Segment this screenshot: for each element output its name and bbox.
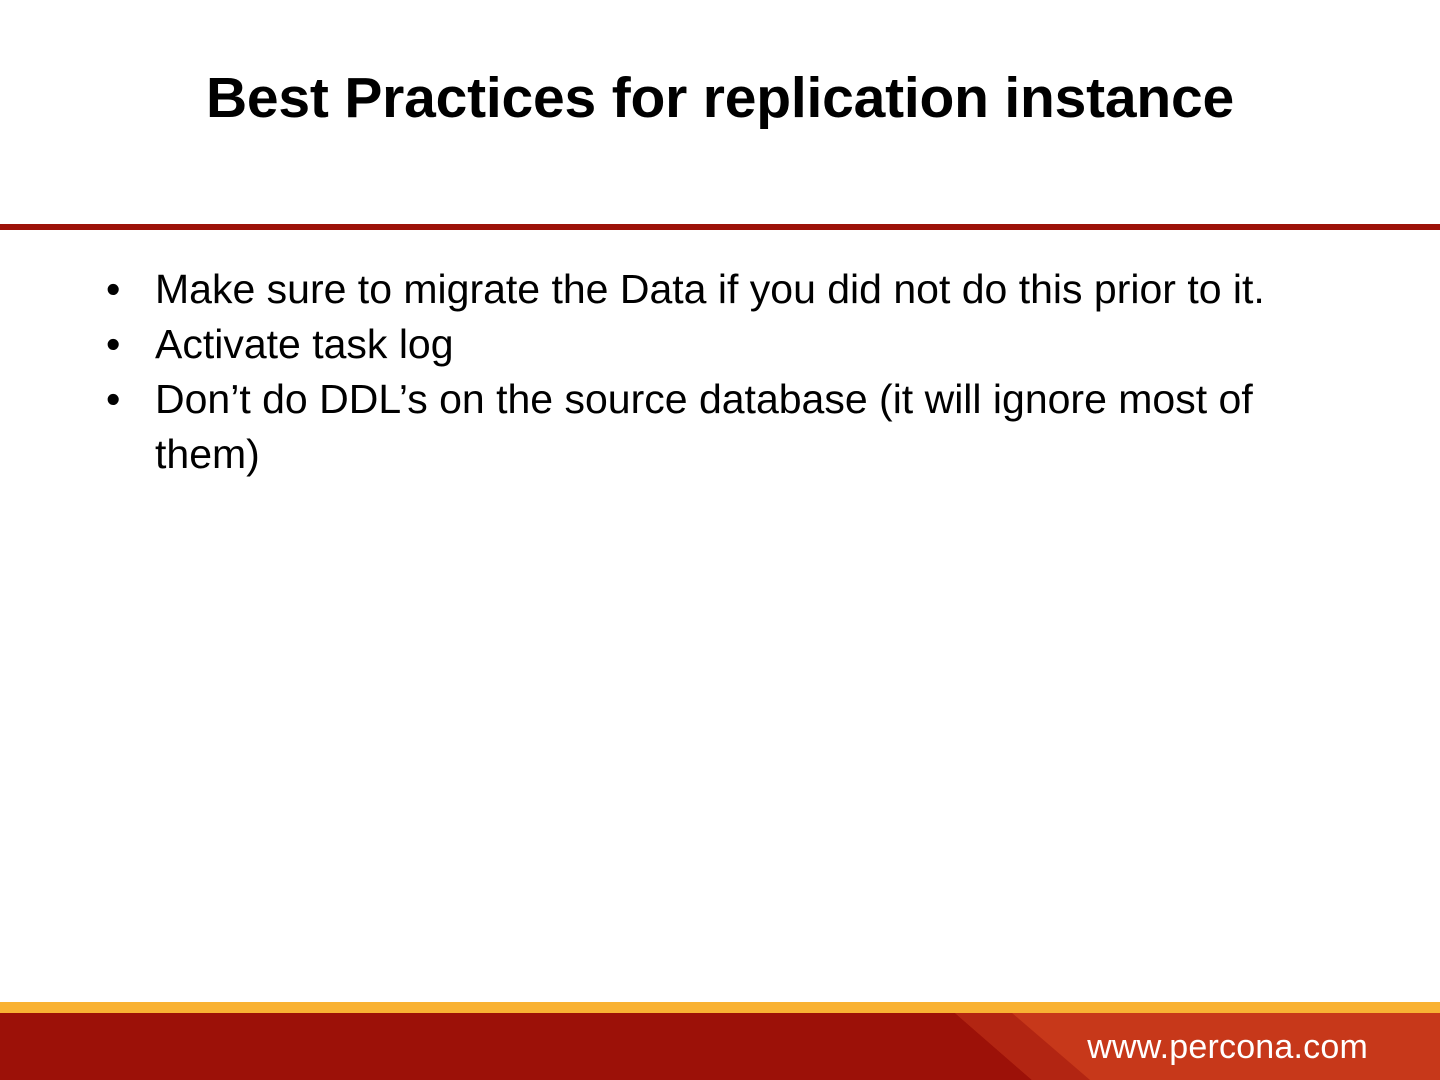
list-item: • Make sure to migrate the Data if you d…: [100, 262, 1285, 317]
footer-website-url[interactable]: www.percona.com: [1087, 1013, 1368, 1080]
title-area: Best Practices for replication instance: [0, 0, 1440, 222]
page-title: Best Practices for replication instance: [166, 69, 1274, 129]
list-item-label: Don’t do DDL’s on the source database (i…: [155, 372, 1285, 482]
list-item-label: Activate task log: [155, 317, 1285, 372]
bullet-point-icon: •: [106, 317, 136, 372]
body-content-area: • Make sure to migrate the Data if you d…: [100, 262, 1285, 482]
title-divider-rule: [0, 224, 1440, 230]
bullet-point-icon: •: [106, 372, 136, 427]
list-item: • Activate task log: [100, 317, 1285, 372]
slide-footer: www.percona.com: [0, 1002, 1440, 1080]
bullet-list: • Make sure to migrate the Data if you d…: [100, 262, 1285, 482]
footer-wedge-dark: [0, 1013, 1080, 1080]
slide-canvas: Best Practices for replication instance …: [0, 0, 1440, 1080]
bullet-point-icon: •: [106, 262, 136, 317]
list-item-label: Make sure to migrate the Data if you did…: [155, 262, 1285, 317]
list-item: • Don’t do DDL’s on the source database …: [100, 372, 1285, 482]
footer-accent-bar: [0, 1002, 1440, 1013]
